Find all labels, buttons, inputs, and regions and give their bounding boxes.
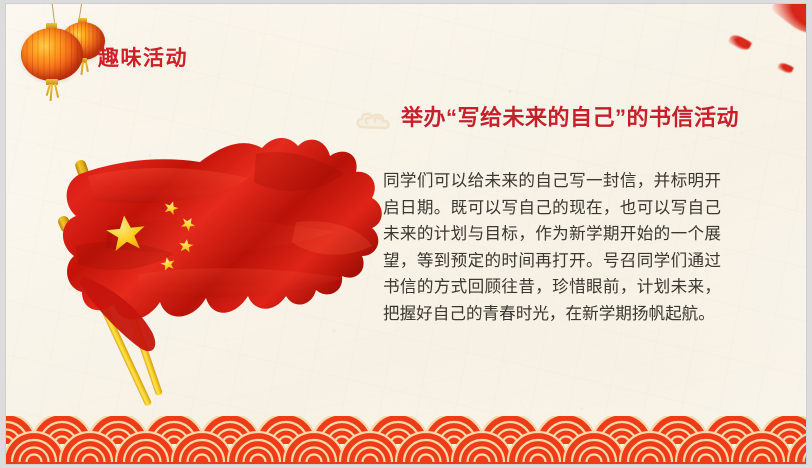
body-paragraph: 同学们可以给未来的自己写一封信，并标明开启日期。既可以写自己的现在，也可以写自己… [383, 168, 721, 327]
falling-petal-icon [770, 4, 806, 41]
chinese-wave-pattern-icon [6, 416, 806, 464]
page-title: 趣味活动 [98, 42, 188, 72]
wave-pattern-svg [6, 416, 806, 464]
falling-petal-icon [728, 32, 753, 52]
falling-petal-icon [777, 61, 794, 74]
lantern-body-large [21, 28, 83, 81]
section-title: 举办“写给未来的自己”的书信活动 [401, 100, 739, 132]
flag-cloth [48, 126, 388, 356]
lantern-tassel-large [50, 84, 53, 101]
lantern-tassel-small-b [85, 62, 88, 72]
lantern-tassel-large-b [54, 84, 59, 98]
lantern-ribs-large [21, 28, 83, 81]
auspicious-cloud-icon [354, 106, 396, 136]
china-national-flag-icon [48, 126, 388, 356]
lantern-string-large [51, 4, 56, 24]
slide-canvas: 趣味活动 [6, 4, 806, 464]
